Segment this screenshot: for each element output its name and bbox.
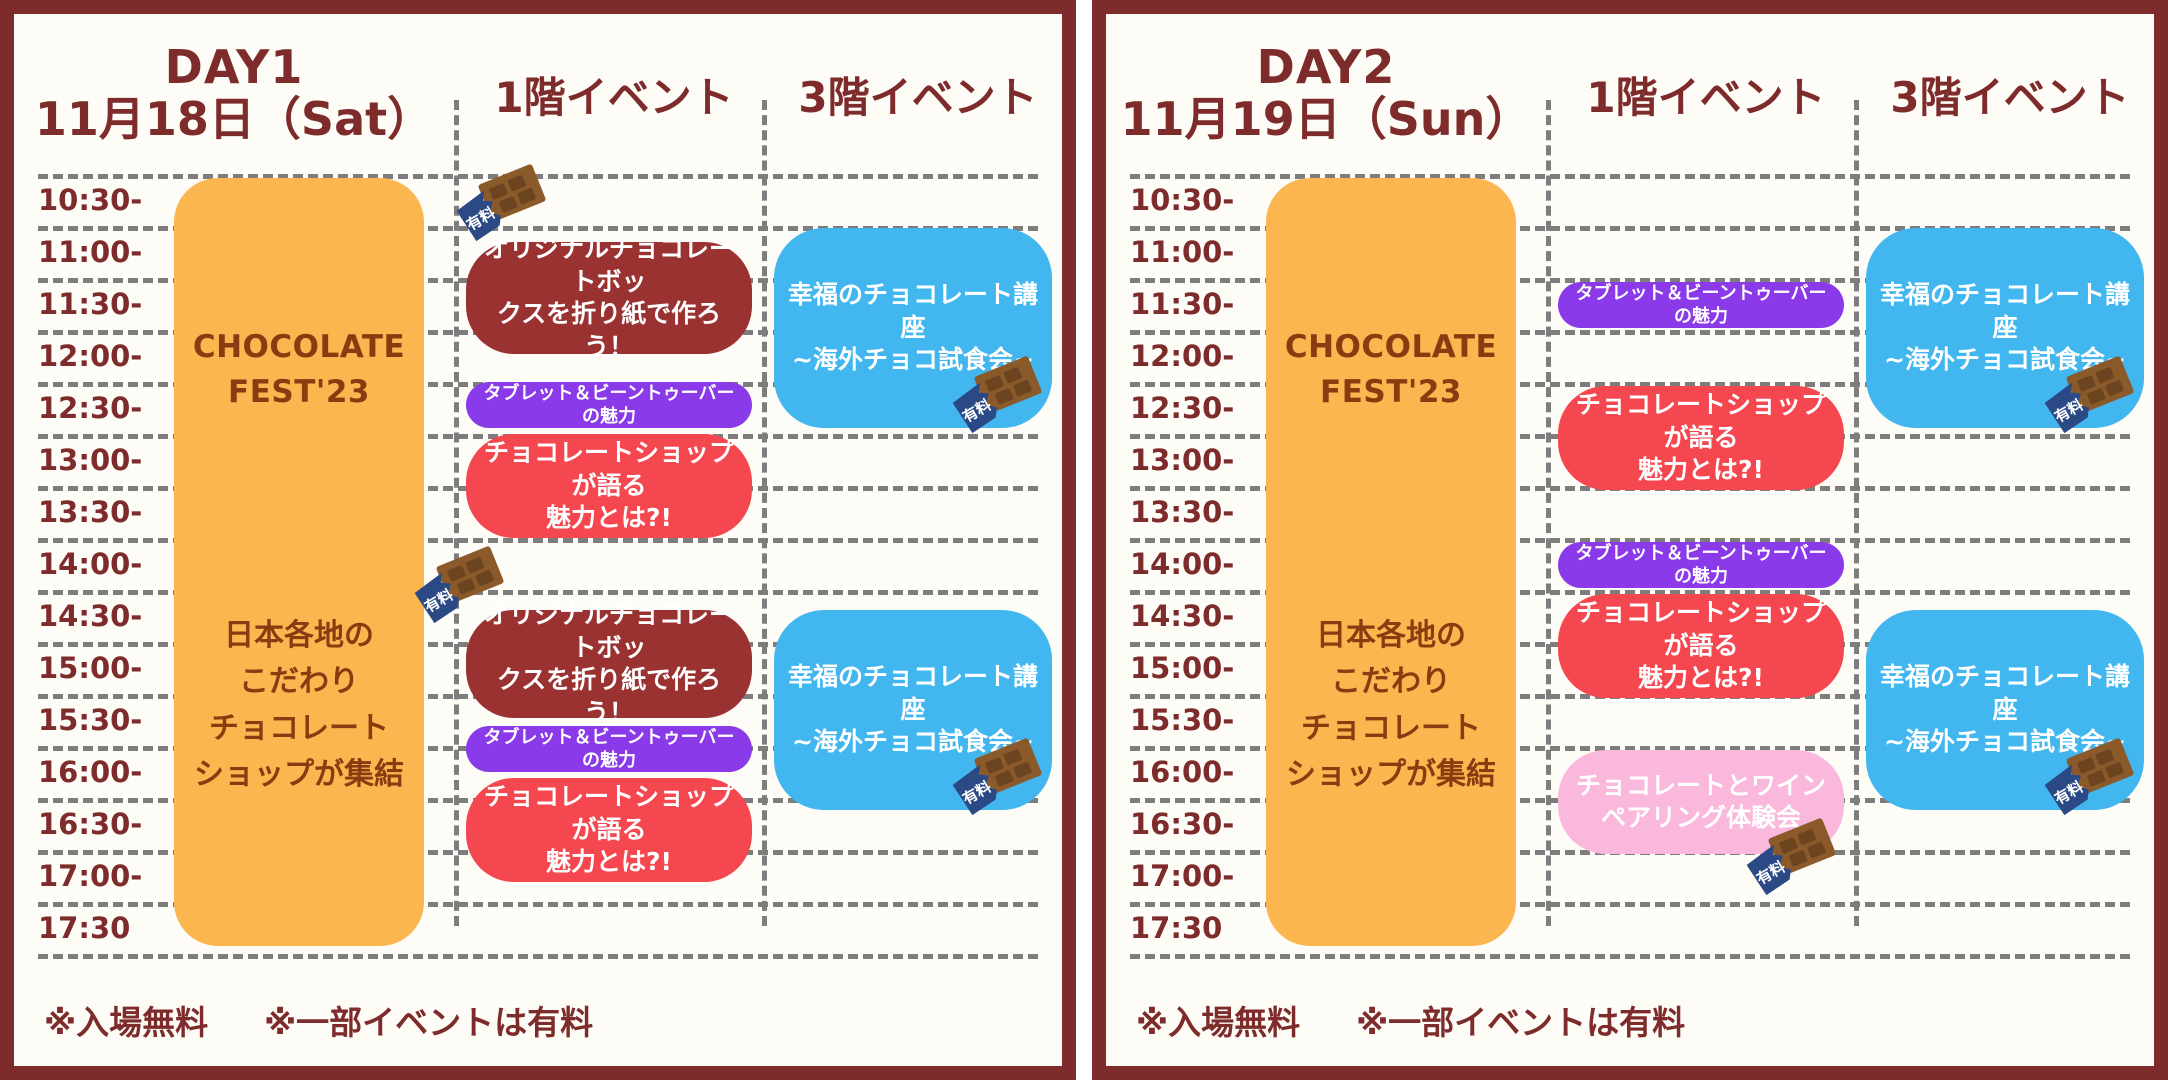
time-row: 13:30-: [1130, 486, 1250, 538]
time-label: 16:00-: [1130, 755, 1234, 789]
time-row: 12:00-: [38, 330, 158, 382]
time-label: 15:00-: [38, 651, 142, 685]
time-label: 14:30-: [1130, 599, 1234, 633]
time-label: 16:30-: [1130, 807, 1234, 841]
time-row: 13:00-: [1130, 434, 1250, 486]
footer-note-paid-events: ※一部イベントは有料: [1356, 996, 1685, 1044]
time-row: 11:00-: [38, 226, 158, 278]
main-title-line2: FEST'23: [193, 370, 405, 415]
time-row: 16:30-: [38, 798, 158, 850]
event-line1: チョコレートとワイン: [1576, 771, 1826, 800]
grid-line-horizontal: [1130, 954, 2130, 959]
panel-1-day-heading: DAY1 11月18日（Sat）: [14, 14, 454, 174]
grid-line-horizontal: [1130, 174, 2130, 179]
time-row: 15:00-: [38, 642, 158, 694]
day-panel-2: DAY2 11月19日（Sun） 1階イベント 3階イベント: [1092, 0, 2168, 1080]
time-label: 10:30-: [1130, 183, 1234, 217]
footer-note-paid-events: ※一部イベントは有料: [264, 996, 593, 1044]
time-row: 13:00-: [38, 434, 158, 486]
day-panel-1-inner: DAY1 11月18日（Sat） 1階イベント 3階イベント: [14, 14, 1062, 1066]
event-line1: 幸福のチョコレート講座: [788, 662, 1038, 724]
main-sub-line3: チョコレート: [1286, 706, 1496, 753]
event-pill-1f[interactable]: タブレット＆ビーントゥーバーの魅力: [1558, 542, 1844, 588]
time-row: 10:30-: [38, 174, 158, 226]
time-label: 14:00-: [1130, 547, 1234, 581]
day-label: DAY1: [165, 42, 304, 93]
col1-header-label: 1階イベント: [494, 64, 733, 125]
event-line2: ペアリング体験会: [1601, 803, 1801, 832]
event-pill-label: チョコレートショップが語る魅力とは?!: [1572, 389, 1830, 487]
event-line1: 幸福のチョコレート講座: [1880, 280, 2130, 342]
event-pill-1f[interactable]: チョコレートショップが語る魅力とは?!: [1558, 594, 1844, 698]
event-pill-label: チョコレートショップが語る魅力とは?!: [480, 781, 738, 879]
time-row: 15:30-: [1130, 694, 1250, 746]
time-row: 11:30-: [38, 278, 158, 330]
grid-line-horizontal: [38, 954, 1038, 959]
time-row: 17:30: [1130, 902, 1250, 954]
event-pill-1f[interactable]: タブレット＆ビーントゥーバーの魅力: [466, 382, 752, 428]
time-label: 15:00-: [1130, 651, 1234, 685]
main-title-line2: FEST'23: [1285, 370, 1497, 415]
main-block-title: CHOCOLATE FEST'23: [193, 325, 405, 415]
main-block-subtitle: 日本各地の こだわり チョコレート ショップが集結: [1286, 613, 1496, 799]
event-line1: オリジナルチョコレートボッ: [484, 600, 734, 662]
panel-2-time-column: 10:30- 11:00- 11:30- 12:00- 12:30- 13:00…: [1130, 174, 1250, 954]
time-label: 11:00-: [38, 235, 142, 269]
time-row: 17:30: [38, 902, 158, 954]
panel-2-col1-header: 1階イベント: [1546, 14, 1866, 174]
time-label: 13:00-: [1130, 443, 1234, 477]
event-line1: チョコレートショップが語る: [1576, 598, 1826, 660]
main-block-title: CHOCOLATE FEST'23: [1285, 325, 1497, 415]
date-label: 11月18日（Sat）: [35, 93, 433, 146]
time-row: 14:00-: [38, 538, 158, 590]
date-label: 11月19日（Sun）: [1121, 93, 1532, 146]
main-block-subtitle: 日本各地の こだわり チョコレート ショップが集結: [194, 613, 404, 799]
time-label: 14:00-: [38, 547, 142, 581]
time-row: 12:30-: [38, 382, 158, 434]
event-pill-label: タブレット＆ビーントゥーバーの魅力: [1572, 542, 1830, 589]
event-pill-label: チョコレートショップが語る魅力とは?!: [480, 437, 738, 535]
event-pill-1f[interactable]: オリジナルチョコレートボックスを折り紙で作ろう！: [466, 610, 752, 718]
panel-1-main-block: CHOCOLATE FEST'23 日本各地の こだわり チョコレート ショップ…: [174, 178, 424, 946]
main-sub-line1: 日本各地の: [194, 613, 404, 660]
panel-2-footer: ※入場無料 ※一部イベントは有料: [1136, 996, 1685, 1044]
time-label: 15:30-: [1130, 703, 1234, 737]
event-line2: 魅力とは?!: [1638, 455, 1764, 484]
time-row: 17:00-: [38, 850, 158, 902]
time-label: 12:00-: [1130, 339, 1234, 373]
event-line2: クスを折り紙で作ろう！: [497, 665, 721, 727]
time-label: 16:30-: [38, 807, 142, 841]
time-label: 17:30: [38, 911, 130, 945]
main-title-line1: CHOCOLATE: [193, 325, 405, 370]
time-label: 13:00-: [38, 443, 142, 477]
time-label: 11:30-: [38, 287, 142, 321]
time-row: 16:30-: [1130, 798, 1250, 850]
time-row: 12:00-: [1130, 330, 1250, 382]
time-row: 14:30-: [38, 590, 158, 642]
panel-2-header: DAY2 11月19日（Sun） 1階イベント 3階イベント: [1106, 14, 2154, 174]
time-row: 16:00-: [1130, 746, 1250, 798]
event-pill-label: タブレット＆ビーントゥーバーの魅力: [480, 726, 738, 773]
event-line1: チョコレートショップが語る: [484, 782, 734, 844]
event-pill-label: タブレット＆ビーントゥーバーの魅力: [480, 382, 738, 429]
day-panel-2-inner: DAY2 11月19日（Sun） 1階イベント 3階イベント: [1106, 14, 2154, 1066]
time-label: 12:00-: [38, 339, 142, 373]
panel-1-time-column: 10:30- 11:00- 11:30- 12:00- 12:30- 13:00…: [38, 174, 158, 954]
event-pill-1f[interactable]: オリジナルチョコレートボックスを折り紙で作ろう！: [466, 242, 752, 354]
main-sub-line2: こだわり: [1286, 659, 1496, 706]
time-label: 15:30-: [38, 703, 142, 737]
event-pill-1f[interactable]: タブレット＆ビーントゥーバーの魅力: [1558, 282, 1844, 328]
panel-1-col1-header: 1階イベント: [454, 14, 774, 174]
time-label: 17:00-: [1130, 859, 1234, 893]
main-sub-line2: こだわり: [194, 659, 404, 706]
time-row: 14:00-: [1130, 538, 1250, 590]
day-panel-1: DAY1 11月18日（Sat） 1階イベント 3階イベント: [0, 0, 1076, 1080]
event-line1: オリジナルチョコレートボッ: [484, 234, 734, 296]
footer-note-free-entry: ※入場無料: [44, 996, 208, 1044]
time-label: 16:00-: [38, 755, 142, 789]
time-row: 14:30-: [1130, 590, 1250, 642]
event-line1: チョコレートショップが語る: [1576, 390, 1826, 452]
event-pill-1f[interactable]: タブレット＆ビーントゥーバーの魅力: [466, 726, 752, 772]
col1-header-label: 1階イベント: [1586, 64, 1825, 125]
day-label: DAY2: [1257, 42, 1396, 93]
event-pill-1f[interactable]: チョコレートショップが語る魅力とは?!: [1558, 386, 1844, 490]
event-line1: 幸福のチョコレート講座: [788, 280, 1038, 342]
time-row: 16:00-: [38, 746, 158, 798]
time-label: 10:30-: [38, 183, 142, 217]
event-line1: チョコレートショップが語る: [484, 438, 734, 500]
event-line1: 幸福のチョコレート講座: [1880, 662, 2130, 724]
time-label: 17:30: [1130, 911, 1222, 945]
panel-2-day-heading: DAY2 11月19日（Sun）: [1106, 14, 1546, 174]
time-row: 15:00-: [1130, 642, 1250, 694]
time-label: 17:00-: [38, 859, 142, 893]
event-pill-label: タブレット＆ビーントゥーバーの魅力: [1572, 282, 1830, 329]
event-pill-1f[interactable]: チョコレートショップが語る魅力とは?!: [466, 778, 752, 882]
panel-1-footer: ※入場無料 ※一部イベントは有料: [44, 996, 593, 1044]
panel-1-col2-header: 3階イベント: [774, 14, 1062, 174]
time-label: 12:30-: [1130, 391, 1234, 425]
event-pill-label: オリジナルチョコレートボックスを折り紙で作ろう！: [480, 233, 738, 363]
time-label: 12:30-: [38, 391, 142, 425]
col2-header-label: 3階イベント: [1890, 64, 2129, 125]
event-line2: 魅力とは?!: [546, 847, 672, 876]
panel-2-col2-header: 3階イベント: [1866, 14, 2154, 174]
footer-note-free-entry: ※入場無料: [1136, 996, 1300, 1044]
time-label: 14:30-: [38, 599, 142, 633]
event-pill-label: チョコレートショップが語る魅力とは?!: [1572, 597, 1830, 695]
time-label: 13:30-: [38, 495, 142, 529]
time-row: 11:00-: [1130, 226, 1250, 278]
event-line2: クスを折り紙で作ろう！: [497, 299, 721, 361]
col2-header-label: 3階イベント: [798, 64, 1037, 125]
event-line2: 魅力とは?!: [1638, 663, 1764, 692]
panel-1-header: DAY1 11月18日（Sat） 1階イベント 3階イベント: [14, 14, 1062, 174]
time-row: 13:30-: [38, 486, 158, 538]
time-label: 11:00-: [1130, 235, 1234, 269]
time-row: 11:30-: [1130, 278, 1250, 330]
event-pill-label: オリジナルチョコレートボックスを折り紙で作ろう！: [480, 599, 738, 729]
main-title-line1: CHOCOLATE: [1285, 325, 1497, 370]
time-row: 17:00-: [1130, 850, 1250, 902]
main-sub-line1: 日本各地の: [1286, 613, 1496, 660]
time-row: 15:30-: [38, 694, 158, 746]
schedule-poster: DAY1 11月18日（Sat） 1階イベント 3階イベント: [0, 0, 2168, 1080]
event-pill-1f[interactable]: チョコレートショップが語る魅力とは?!: [466, 434, 752, 538]
event-line2: 魅力とは?!: [546, 503, 672, 532]
time-label: 13:30-: [1130, 495, 1234, 529]
time-label: 11:30-: [1130, 287, 1234, 321]
main-sub-line3: チョコレート: [194, 706, 404, 753]
panel-2-main-block: CHOCOLATE FEST'23 日本各地の こだわり チョコレート ショップ…: [1266, 178, 1516, 946]
time-row: 10:30-: [1130, 174, 1250, 226]
main-sub-line4: ショップが集結: [194, 752, 404, 799]
main-sub-line4: ショップが集結: [1286, 752, 1496, 799]
time-row: 12:30-: [1130, 382, 1250, 434]
